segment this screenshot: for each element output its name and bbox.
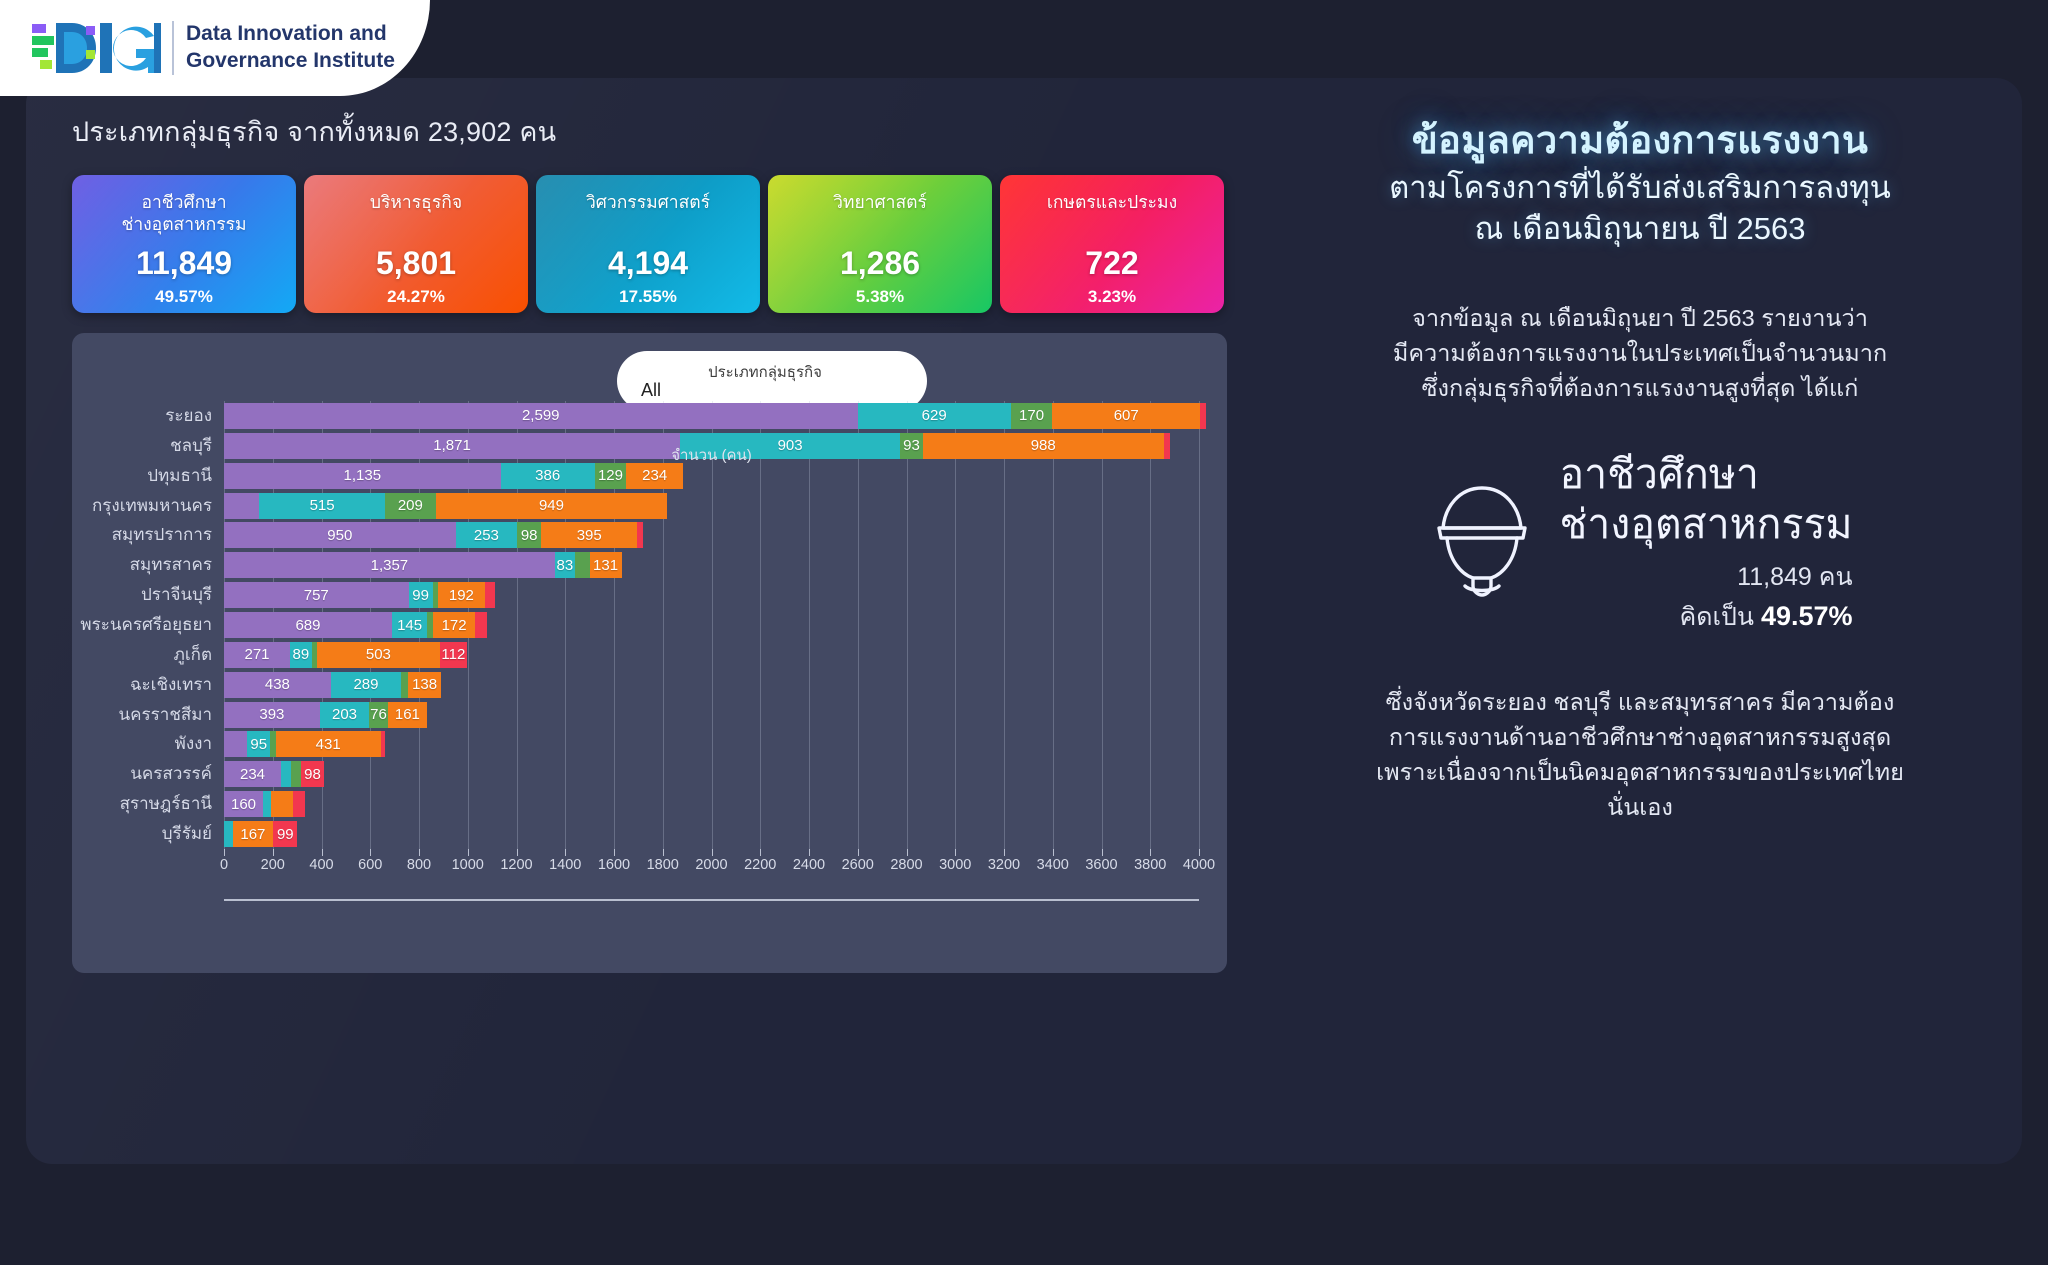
bar-segment[interactable]: 253 [456,522,518,548]
y-axis-label: สมุทรสาคร [130,552,212,578]
x-tick-mark [712,849,713,856]
bar-segment-label: 145 [397,617,422,634]
bar-row[interactable]: 75799192 [224,582,495,608]
kpi-card[interactable]: บริหารธุรกิจ5,80124.27% [304,175,528,313]
bar-segment-label: 395 [577,527,602,544]
kpi-card-list: อาชีวศึกษา ช่างอุตสาหกรรม11,84949.57%บริ… [72,175,1252,313]
brand-tagline: Data Innovation and Governance Institute [172,21,395,75]
x-tick-label: 3600 [1085,857,1117,873]
x-tick-mark [224,849,225,856]
bar-segment[interactable]: 131 [590,552,622,578]
kpi-card[interactable]: วิศวกรรมศาสตร์4,19417.55% [536,175,760,313]
bar-segment-label: 161 [395,706,420,723]
bar-row[interactable]: 27189503112 [224,642,467,668]
bar-segment[interactable] [291,761,301,787]
bar-segment-label: 431 [316,736,341,753]
bar-segment[interactable]: 98 [301,761,325,787]
bar-segment[interactable]: 950 [224,522,456,548]
bar-segment-label: 112 [441,646,465,663]
y-axis-label: ฉะเชิงเทรา [130,672,212,698]
y-axis-label: ปทุมธานี [147,463,212,489]
grid-line [1102,401,1103,849]
x-tick-label: 4000 [1183,857,1215,873]
x-tick-mark [955,849,956,856]
x-tick-label: 3000 [939,857,971,873]
bar-segment-label: 253 [474,527,499,544]
bar-segment[interactable]: 170 [1011,403,1052,429]
bar-segment-label: 515 [310,497,335,514]
bar-segment[interactable] [401,672,408,698]
bar-row[interactable]: 1,35783131 [224,552,622,578]
bar-segment-label: 1,135 [344,467,382,484]
y-axis-label: ระยอง [165,403,212,429]
bar-segment-label: 1,357 [371,557,409,574]
bar-segment-label: 192 [449,587,474,604]
x-tick-mark [663,849,664,856]
y-axis-label: สมุทรปราการ [112,522,212,548]
grid-line [1053,401,1054,849]
bar-segment-label: 393 [259,706,284,723]
bar-segment[interactable] [637,522,643,548]
bar-segment-label: 98 [304,766,321,783]
bar-segment-label: 203 [332,706,357,723]
y-axis-label: พังงา [175,731,212,757]
x-tick-mark [1053,849,1054,856]
x-tick-mark [517,849,518,856]
bar-row[interactable]: 95431 [224,731,385,757]
bar-segment[interactable]: 203 [320,702,369,728]
bar-segment-label: 160 [231,796,256,813]
plot-area: 0200400600800100012001400160018002000220… [224,401,1199,901]
bar-segment[interactable] [271,791,293,817]
x-tick-mark [370,849,371,856]
bar-segment[interactable] [381,731,385,757]
kpi-card-value: 4,194 [536,245,760,282]
x-tick-label: 400 [309,857,333,873]
x-tick-label: 1200 [500,857,532,873]
x-tick-mark [419,849,420,856]
bar-segment[interactable]: 160 [224,791,263,817]
bar-segment-label: 757 [304,587,329,604]
kpi-card-percent: 49.57% [72,287,296,307]
bar-segment[interactable]: 393 [224,702,320,728]
x-tick-mark [565,849,566,856]
bar-row[interactable]: 515209949 [224,493,667,519]
bar-row[interactable]: 2,599629170607 [224,403,1206,429]
bar-segment[interactable]: 99 [409,582,433,608]
bar-segment[interactable] [224,731,247,757]
highlight-count: 11,849 คน [1559,557,1852,597]
grid-line [1199,401,1200,849]
bar-row[interactable]: 39320376161 [224,702,427,728]
x-tick-mark [907,849,908,856]
x-tick-label: 2000 [695,857,727,873]
top-category-highlight: อาชีวศึกษา ช่างอุตสาหกรรม 11,849 คน คิดเ… [1290,449,1990,637]
bar-segment-label: 89 [293,646,310,663]
y-axis-label: พระนครศรีอยุธยา [80,612,212,638]
grid-line [907,401,908,849]
kpi-card[interactable]: อาชีวศึกษา ช่างอุตสาหกรรม11,84949.57% [72,175,296,313]
x-tick-label: 800 [407,857,431,873]
y-axis-label: ปราจีนบุรี [141,582,212,608]
bar-segment[interactable] [485,582,495,608]
x-tick-label: 600 [358,857,382,873]
bar-segment[interactable]: 1,357 [224,552,555,578]
filter-label: ประเภทกลุ่มธุรกิจ [617,360,913,384]
bar-row[interactable]: 160 [224,791,305,817]
bar-segment[interactable] [293,791,306,817]
filter-value: All [641,380,661,401]
bar-segment[interactable]: 209 [385,493,436,519]
closing-paragraph: ซึ่งจังหวัดระยอง ชลบุรี และสมุทรสาคร มีค… [1290,685,1990,826]
bar-segment[interactable]: 161 [388,702,427,728]
x-tick-mark [1004,849,1005,856]
kpi-card-title: อาชีวศึกษา ช่างอุตสาหกรรม [121,191,246,236]
digi-logo-icon [30,20,162,76]
grid-line [1150,401,1151,849]
bar-segment[interactable]: 112 [440,642,467,668]
x-tick-label: 3400 [1037,857,1069,873]
bar-segment-label: 234 [240,766,265,783]
y-axis-label: สุราษฎร์ธานี [120,791,212,817]
bar-segment[interactable]: 949 [436,493,667,519]
page-title: ประเภทกลุ่มธุรกิจ จากทั้งหมด 23,902 คน [72,110,1252,153]
bar-segment[interactable] [263,791,271,817]
bar-segment[interactable]: 83 [555,552,575,578]
bar-segment-label: 438 [265,676,290,693]
bar-segment[interactable]: 172 [433,612,475,638]
bar-row[interactable]: 689145172 [224,612,487,638]
x-tick-mark [760,849,761,856]
bar-segment[interactable]: 503 [317,642,440,668]
x-tick-mark [809,849,810,856]
grid-line [712,401,713,849]
bar-segment-label: 131 [593,557,618,574]
x-tick-label: 2200 [744,857,776,873]
kpi-card-title: บริหารธุรกิจ [370,191,462,213]
bar-segment[interactable] [1200,403,1205,429]
grid-line [760,401,761,849]
bar-segment[interactable]: 2,599 [224,403,858,429]
y-axis-label: ชลบุรี [170,433,212,459]
kpi-card-title: เกษตรและประมง [1047,191,1177,213]
bar-row[interactable]: 438289138 [224,672,441,698]
bar-segment-label: 209 [398,497,423,514]
bar-segment[interactable] [575,552,590,578]
bar-segment[interactable]: 757 [224,582,409,608]
brand-logo-tab: Data Innovation and Governance Institute [0,0,430,96]
bar-segment-label: 2,599 [522,407,560,424]
x-tick-mark [468,849,469,856]
bar-segment[interactable] [475,612,486,638]
bar-segment-label: 76 [370,706,387,723]
bar-segment[interactable]: 689 [224,612,392,638]
x-tick-mark [614,849,615,856]
bar-segment[interactable]: 192 [438,582,485,608]
bar-segment[interactable]: 629 [858,403,1011,429]
x-tick-mark [273,849,274,856]
bar-segment-label: 170 [1019,407,1044,424]
highlight-percent-value: 49.57% [1761,601,1853,631]
bar-segment-label: 138 [412,676,437,693]
bar-segment-label: 234 [642,467,667,484]
bar-segment-label: 949 [539,497,564,514]
kpi-card-title: วิศวกรรมศาสตร์ [586,191,710,213]
bar-segment[interactable]: 167 [233,821,274,847]
kpi-card-value: 5,801 [304,245,528,282]
bar-segment-label: 607 [1114,407,1139,424]
x-axis-title: จำนวน (คน) [224,443,1199,467]
y-axis-label: นครสวรรค์ [130,761,212,787]
kpi-card[interactable]: เกษตรและประมง7223.23% [1000,175,1224,313]
right-column: ข้อมูลความต้องการแรงงาน ตามโครงการที่ได้… [1290,118,1990,826]
bar-row[interactable]: 95025398395 [224,522,643,548]
kpi-card-percent: 24.27% [304,287,528,307]
bar-segment-label: 629 [922,407,947,424]
bar-segment-label: 167 [240,826,265,843]
bar-segment[interactable]: 438 [224,672,331,698]
x-tick-label: 3800 [1134,857,1166,873]
x-tick-label: 200 [261,857,285,873]
bar-row[interactable]: 23498 [224,761,324,787]
kpi-card-title: วิทยาศาสตร์ [833,191,927,213]
bar-segment[interactable]: 98 [517,522,541,548]
x-tick-label: 0 [220,857,228,873]
bar-segment[interactable] [281,761,291,787]
bar-segment[interactable]: 289 [331,672,401,698]
highlight-percent-prefix: คิดเป็น [1680,603,1761,631]
left-column: ประเภทกลุ่มธุรกิจ จากทั้งหมด 23,902 คน อ… [72,110,1252,973]
dashboard-root: Data Innovation and Governance Institute… [0,0,2048,1265]
grid-line [1004,401,1005,849]
bar-segment[interactable]: 607 [1052,403,1200,429]
y-axis-label: นครราชสีมา [119,702,212,728]
hard-hat-worker-icon [1427,482,1537,603]
bar-segment[interactable]: 515 [259,493,385,519]
grid-line [809,401,810,849]
bar-segment-label: 950 [327,527,352,544]
bar-segment[interactable]: 271 [224,642,290,668]
x-tick-label: 2400 [793,857,825,873]
highlight-percent: คิดเป็น 49.57% [1559,597,1852,637]
kpi-card-percent: 17.55% [536,287,760,307]
bar-segment[interactable]: 89 [290,642,312,668]
highlight-category-name: อาชีวศึกษา ช่างอุตสาหกรรม [1559,449,1852,549]
bar-segment[interactable]: 145 [392,612,427,638]
kpi-card[interactable]: วิทยาศาสตร์1,2865.38% [768,175,992,313]
bar-segment-label: 99 [277,826,294,843]
kpi-card-value: 11,849 [72,245,296,282]
y-axis-label: บุรีรัมย์ [162,821,212,847]
x-tick-mark [1102,849,1103,856]
bar-segment-label: 95 [250,736,267,753]
stacked-bar-chart: ระยองชลบุรีปทุมธานีกรุงเทพมหานครสมุทรปรา… [72,401,1227,901]
bar-segment-label: 689 [295,617,320,634]
x-tick-mark [1199,849,1200,856]
kpi-card-value: 1,286 [768,245,992,282]
kpi-card-percent: 5.38% [768,287,992,307]
bar-segment[interactable]: 99 [273,821,297,847]
x-tick-label: 2800 [890,857,922,873]
bar-segment-label: 271 [245,646,270,663]
bar-segment-label: 386 [535,467,560,484]
bar-segment-label: 83 [557,557,574,574]
x-tick-label: 1400 [549,857,581,873]
bar-segment-label: 99 [412,587,429,604]
highlight-text-block: อาชีวศึกษา ช่างอุตสาหกรรม 11,849 คน คิดเ… [1559,449,1852,637]
x-tick-label: 2600 [842,857,874,873]
x-tick-mark [322,849,323,856]
intro-paragraph: จากข้อมูล ณ เดือนมิถุนยา ปี 2563 รายงานว… [1290,301,1990,407]
bar-segment[interactable] [224,821,233,847]
x-tick-mark [858,849,859,856]
y-axis-label: กรุงเทพมหานคร [92,493,212,519]
x-tick-label: 1600 [598,857,630,873]
bar-segment-label: 503 [366,646,391,663]
bar-segment[interactable]: 138 [408,672,442,698]
x-tick-label: 1000 [452,857,484,873]
bar-segment[interactable]: 395 [541,522,637,548]
bar-row[interactable]: 16799 [224,821,297,847]
kpi-card-value: 722 [1000,245,1224,282]
grid-line [858,401,859,849]
bar-segment[interactable]: 76 [369,702,388,728]
hero-subtitle: ตามโครงการที่ได้รับส่งเสริมการลงทุน ณ เด… [1290,168,1990,249]
bar-segment-label: 289 [353,676,378,693]
kpi-card-percent: 3.23% [1000,287,1224,307]
chart-panel: ประเภทกลุ่มธุรกิจ All ระยองชลบุรีปทุมธาน… [72,333,1227,973]
grid-line [955,401,956,849]
x-tick-label: 3200 [988,857,1020,873]
hero-title: ข้อมูลความต้องการแรงงาน [1290,118,1990,164]
bar-segment[interactable]: 431 [276,731,381,757]
x-tick-mark [1150,849,1151,856]
bar-segment[interactable]: 95 [247,731,270,757]
bar-segment[interactable] [224,493,259,519]
x-tick-label: 1800 [647,857,679,873]
y-axis: ระยองชลบุรีปทุมธานีกรุงเทพมหานครสมุทรปรา… [72,401,220,901]
bar-segment-label: 129 [598,467,623,484]
y-axis-label: ภูเก็ต [174,642,212,668]
bar-segment-label: 98 [521,527,538,544]
bar-segment-label: 172 [442,617,467,634]
bar-segment[interactable]: 234 [224,761,281,787]
